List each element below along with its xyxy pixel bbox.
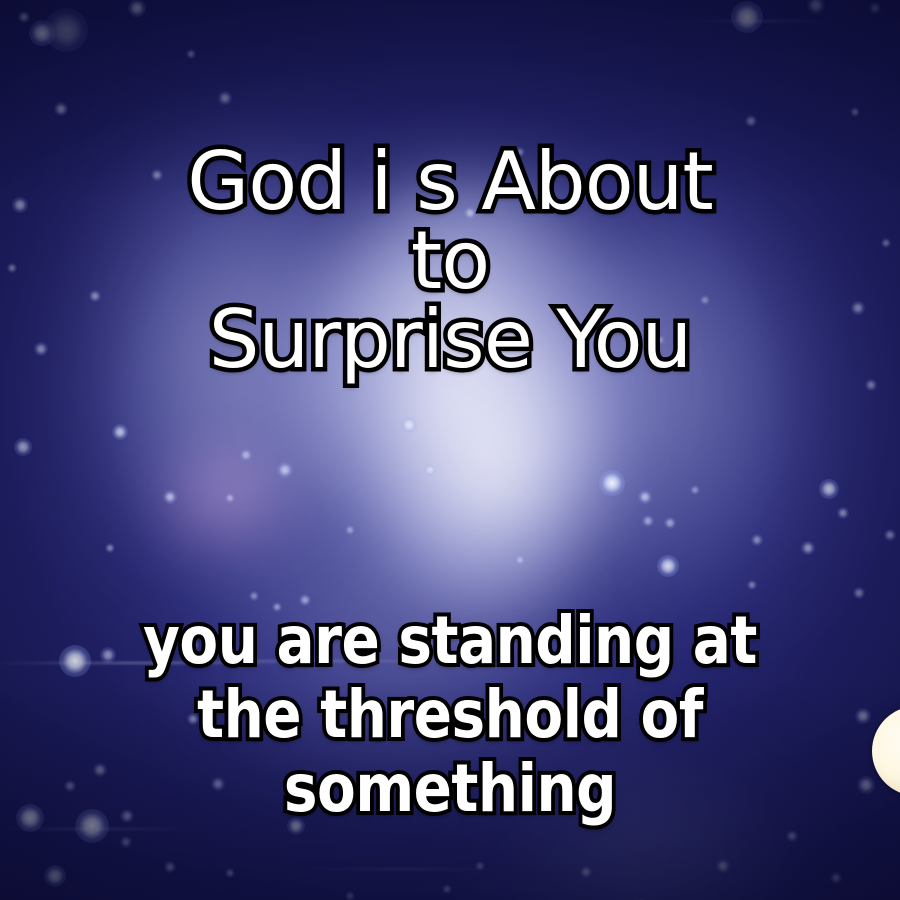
quote-image: God i s About to Surprise You you are st… xyxy=(0,0,900,900)
space-background xyxy=(0,0,900,900)
